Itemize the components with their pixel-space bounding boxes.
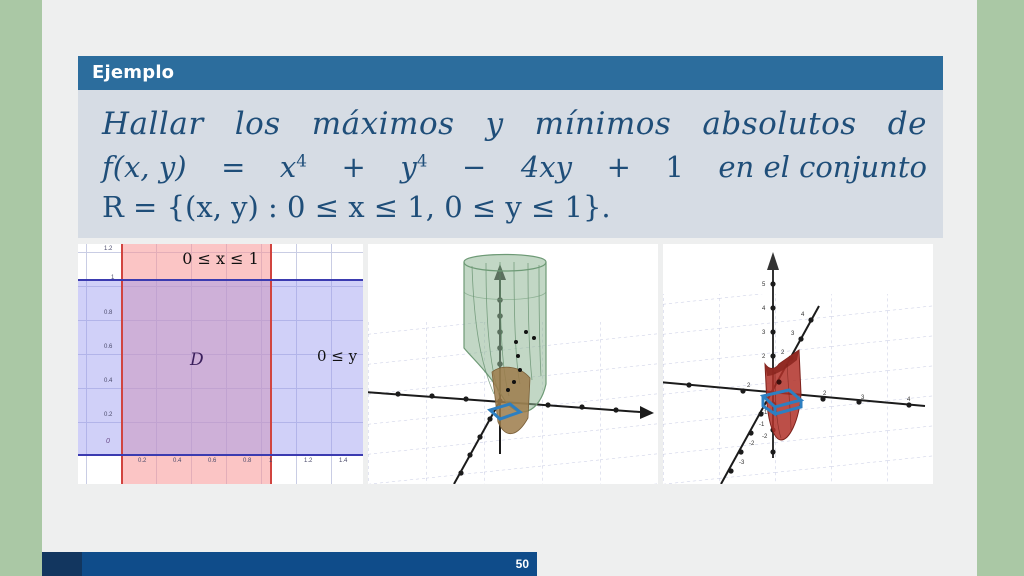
y-tick-1: 1 — [111, 275, 114, 281]
status-bar-main-segment: 50 — [82, 552, 537, 576]
slide-status-bar: 50 — [42, 548, 977, 576]
svg-text:-1: -1 — [762, 410, 768, 416]
statement-line-1: Hallar los máximos y mínimos absolutos d… — [100, 104, 929, 148]
word-absolutos: absolutos — [702, 106, 856, 142]
phrase-en-el-conjunto: en el conjunto — [718, 150, 927, 184]
function-lhs: f(x, y) — [102, 150, 187, 184]
origin-label: 0 — [106, 438, 110, 445]
term-y4: y4 — [400, 150, 427, 184]
word-y: y — [486, 106, 504, 142]
term-x4: x4 — [280, 150, 307, 184]
y-inequality-prefix: 0 ≤ y ≤ — [317, 347, 363, 365]
minus-sign: − — [462, 150, 486, 184]
x-tick-1_2: 1.2 — [304, 458, 312, 464]
status-bar-left-segment — [42, 552, 82, 576]
word-hallar: Hallar — [102, 106, 204, 142]
slide-number: 50 — [516, 552, 529, 576]
region-label-D: D — [190, 350, 204, 370]
word-de: de — [888, 106, 927, 142]
region-3d-canvas[interactable]: 22 34 43 — [663, 244, 933, 484]
figure-surface-3d[interactable] — [368, 244, 658, 484]
surface-3d-svg — [368, 244, 658, 484]
equals-sign: = — [221, 150, 245, 184]
y-tick-0_8: 0.8 — [104, 310, 112, 316]
x-tick-1: 1 — [269, 458, 272, 464]
surface-3d-canvas[interactable] — [368, 244, 658, 484]
problem-statement-panel: Hallar los máximos y mínimos absolutos d… — [78, 90, 943, 238]
x-tick-0_8: 0.8 — [243, 458, 251, 464]
plus-sign-1: + — [342, 150, 366, 184]
region-3d-svg: 22 34 43 — [663, 244, 933, 484]
x-tick-0_2: 0.2 — [138, 458, 146, 464]
statement-line-3: R = {(x, y) : 0 ≤ x ≤ 1, 0 ≤ y ≤ 1}. — [100, 188, 929, 228]
svg-text:-3: -3 — [739, 460, 745, 466]
statement-line-2: f(x, y) = x4 + y4 − 4xy + 1 en el conjun… — [100, 148, 929, 188]
x-inequality-label: 0 ≤ x ≤ 1 — [182, 249, 259, 268]
video-frame: Ejemplo Hallar los máximos y mínimos abs… — [0, 0, 1024, 576]
figure-region-3d[interactable]: 22 34 43 — [663, 244, 933, 484]
svg-text:-2: -2 — [749, 441, 755, 447]
plus-sign-2: + — [607, 150, 631, 184]
example-header-bar: Ejemplo — [78, 56, 943, 90]
y-tick-0_2: 0.2 — [104, 412, 112, 418]
domain-plot-canvas[interactable]: 1.2 1 0.8 0.6 0.4 0.2 0.2 0.4 0.6 0.8 1 … — [78, 244, 363, 484]
svg-text:-2: -2 — [762, 434, 768, 440]
x-tick-0_4: 0.4 — [173, 458, 181, 464]
figure-domain-plot[interactable]: 1.2 1 0.8 0.6 0.4 0.2 0.2 0.4 0.6 0.8 1 … — [78, 244, 363, 484]
y-tick-1_2: 1.2 — [104, 246, 112, 252]
slide-content-block: Ejemplo Hallar los máximos y mínimos abs… — [78, 56, 943, 484]
x-tick-0_6: 0.6 — [208, 458, 216, 464]
svg-text:-1: -1 — [759, 422, 765, 428]
term-one: 1 — [665, 150, 683, 184]
word-maximos: máximos — [312, 106, 455, 142]
x-tick-1_4: 1.4 — [339, 458, 347, 464]
term-4xy: 4xy — [521, 150, 572, 184]
word-los: los — [235, 106, 281, 142]
y-tick-0_4: 0.4 — [104, 378, 112, 384]
y-tick-0_6: 0.6 — [104, 344, 112, 350]
y-inequality-label: 0 ≤ y ≤1 — [317, 345, 363, 367]
slide-stage: Ejemplo Hallar los máximos y mínimos abs… — [42, 0, 977, 576]
figures-row: 1.2 1 0.8 0.6 0.4 0.2 0.2 0.4 0.6 0.8 1 … — [78, 244, 943, 484]
word-minimos: mínimos — [535, 106, 672, 142]
example-header-title: Ejemplo — [92, 62, 174, 83]
svg-text:5: 5 — [762, 282, 766, 288]
